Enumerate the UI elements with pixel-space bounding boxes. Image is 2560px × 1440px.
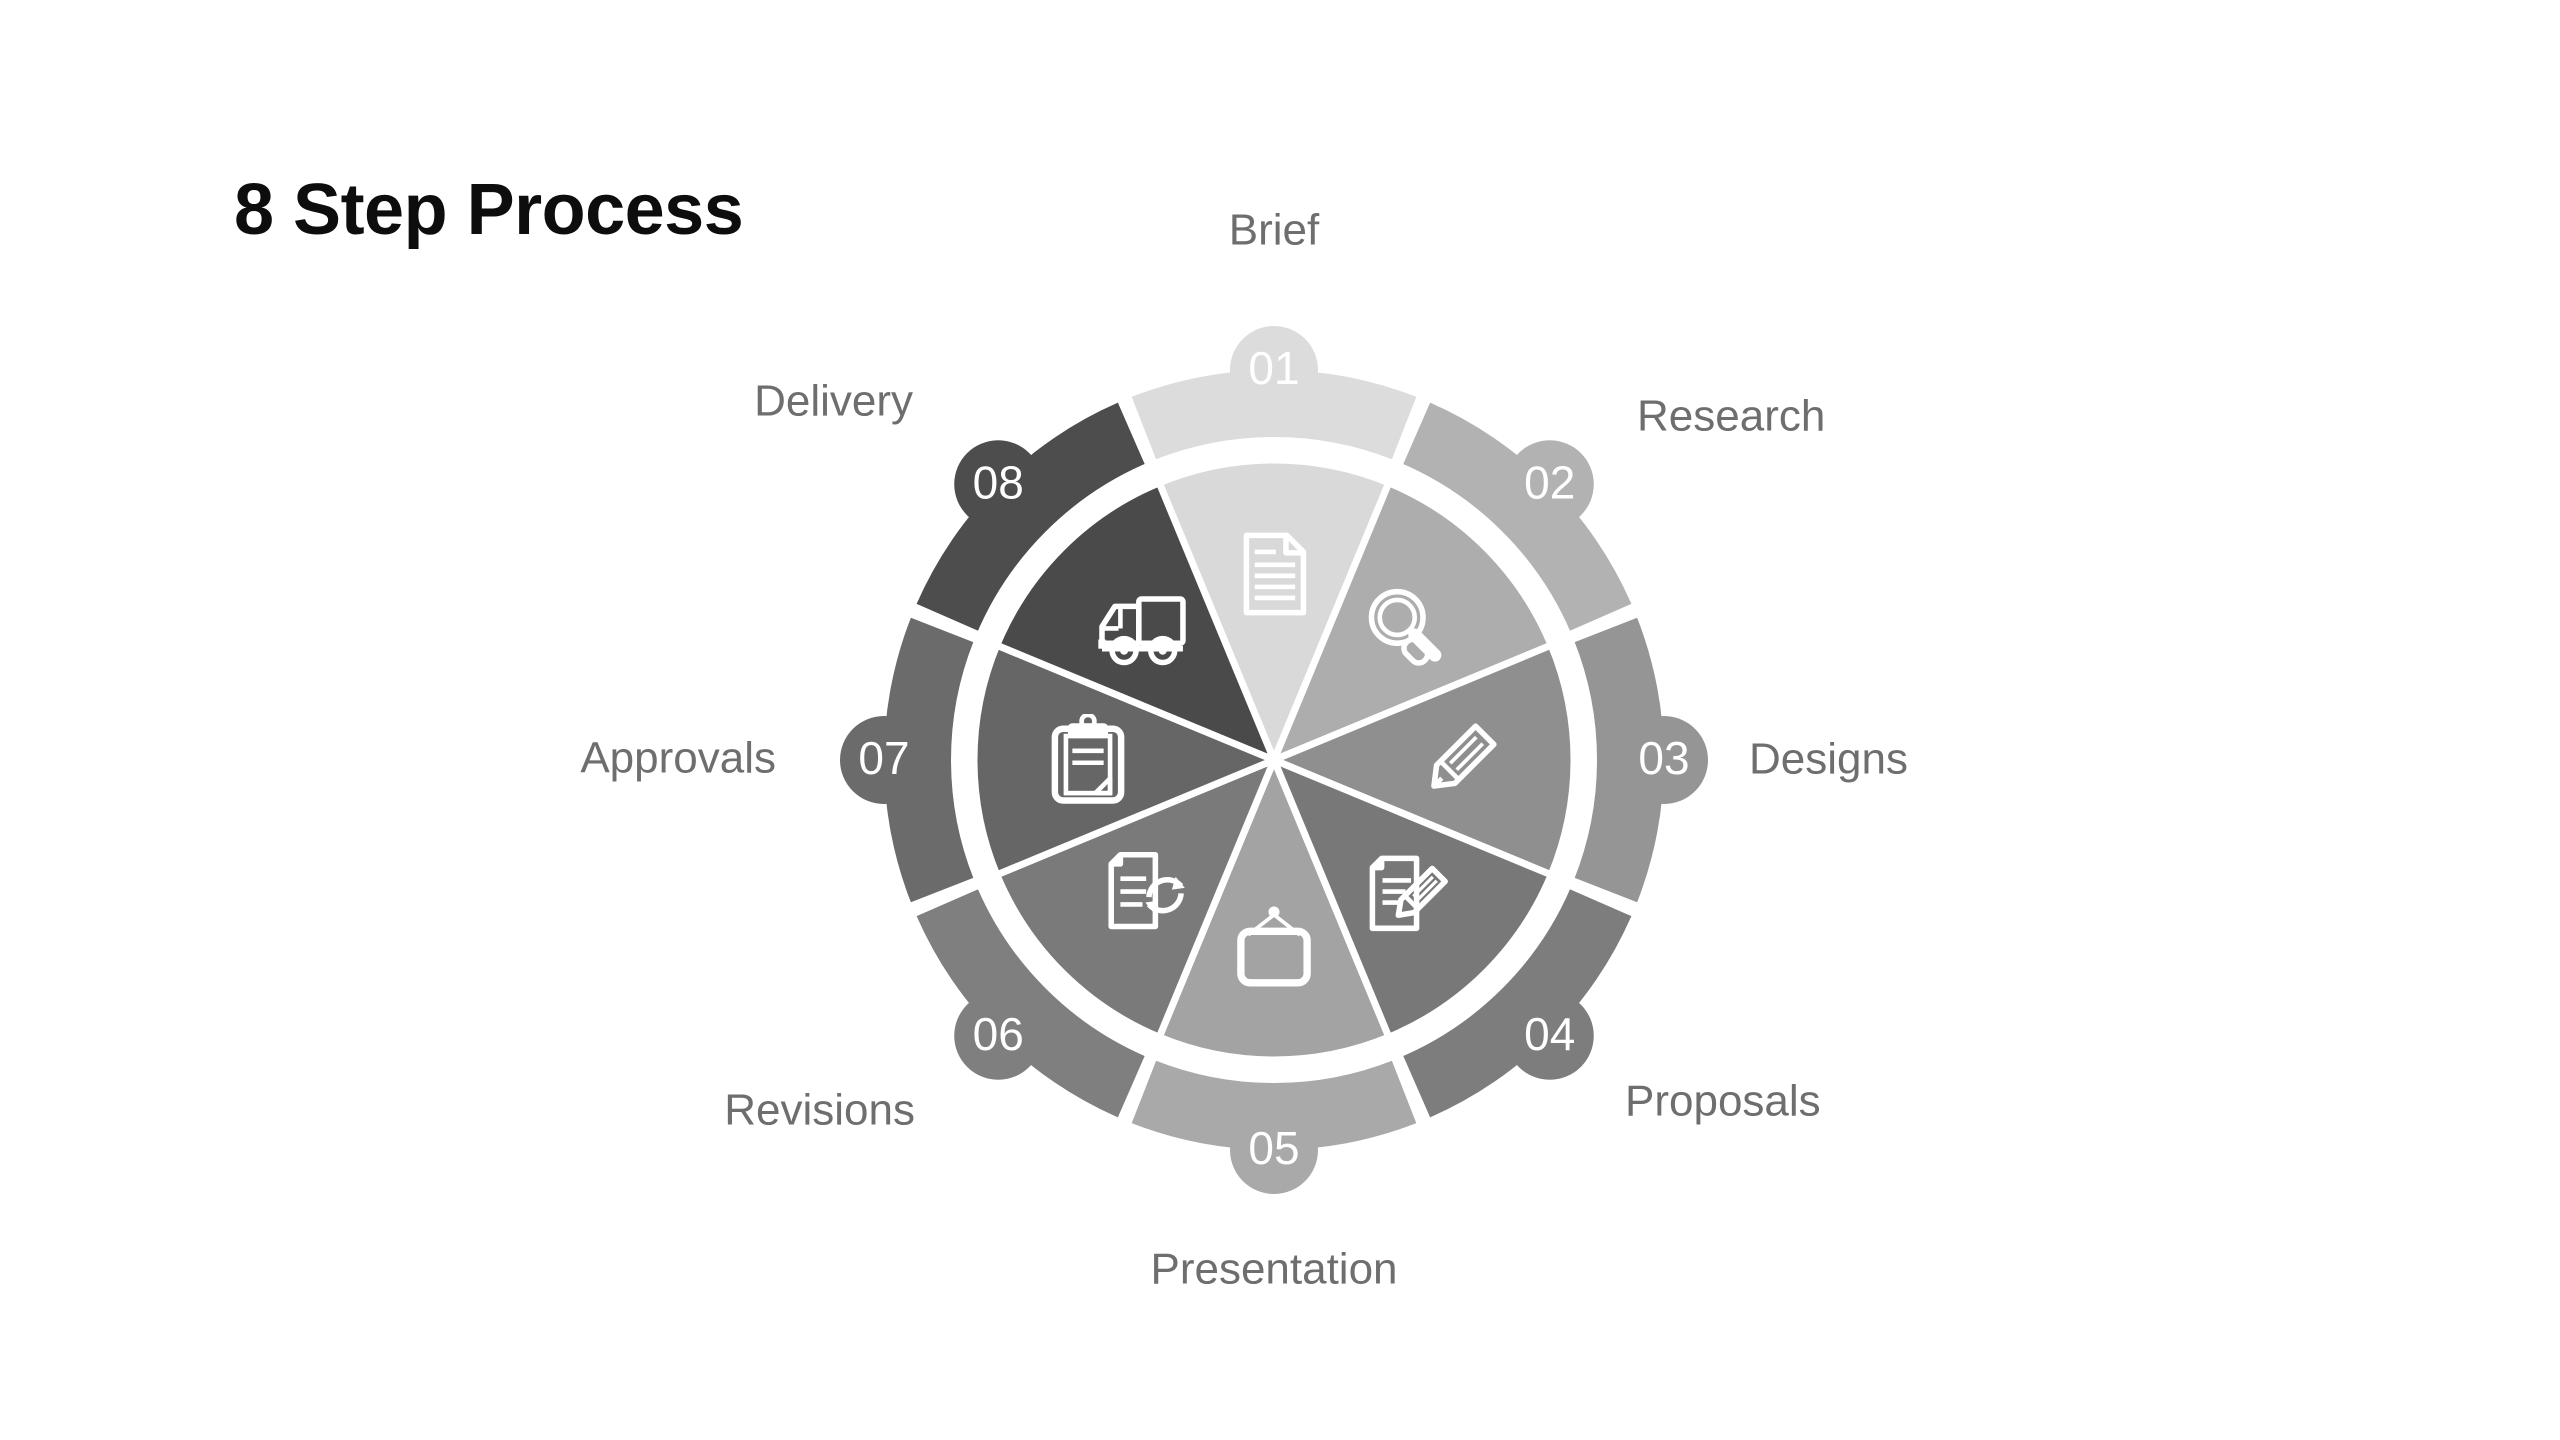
step-label-revisions: Revisions [724, 1086, 915, 1135]
step-label-research: Research [1637, 392, 1825, 441]
process-wheel-svg: 0102030405060708 BriefResearchDesignsPro… [0, 0, 2560, 1440]
process-wheel: 0102030405060708 BriefResearchDesignsPro… [0, 0, 2560, 1440]
step-label-designs: Designs [1749, 735, 1908, 784]
slide-canvas: 8 Step Process [0, 0, 2560, 1440]
step-number-04: 04 [1524, 1008, 1575, 1060]
step-label-presentation: Presentation [1150, 1245, 1397, 1294]
step-number-03: 03 [1638, 732, 1689, 784]
step-number-02: 02 [1524, 456, 1575, 508]
step-badge-05[interactable]: 05 [1230, 1106, 1318, 1194]
step-number-06: 06 [973, 1008, 1024, 1060]
step-badge-04[interactable]: 04 [1506, 992, 1594, 1080]
step-number-07: 07 [858, 732, 909, 784]
step-badge-03[interactable]: 03 [1620, 716, 1708, 804]
step-badge-08[interactable]: 08 [954, 440, 1042, 528]
step-label-proposals: Proposals [1625, 1077, 1821, 1126]
step-badge-07[interactable]: 07 [840, 716, 928, 804]
step-label-approvals: Approvals [580, 734, 776, 783]
step-number-01: 01 [1248, 342, 1299, 394]
step-number-05: 05 [1248, 1122, 1299, 1174]
step-badge-01[interactable]: 01 [1230, 326, 1318, 414]
step-label-delivery: Delivery [754, 377, 913, 426]
step-label-brief: Brief [1229, 206, 1320, 255]
step-number-08: 08 [973, 456, 1024, 508]
step-badge-06[interactable]: 06 [954, 992, 1042, 1080]
step-badge-02[interactable]: 02 [1506, 440, 1594, 528]
